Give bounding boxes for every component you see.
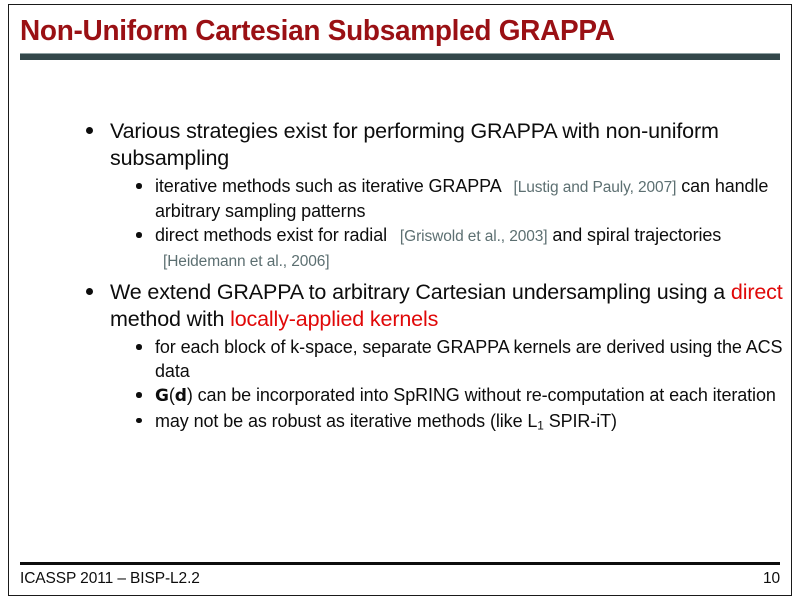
- footer-rule: [20, 562, 780, 565]
- bullet-list-level2: for each block of k-space, separate GRAP…: [0, 336, 800, 438]
- sub-bullet-item: iterative methods such as iterative GRAP…: [0, 175, 800, 223]
- bullet-dot-icon: [136, 344, 142, 350]
- slide-body: Various strategies exist for performing …: [0, 118, 800, 444]
- title-area: Non-Uniform Cartesian Subsampled GRAPPA: [20, 14, 782, 48]
- bullet-dot-icon: [136, 392, 142, 398]
- sub-bullet-item: may not be as robust as iterative method…: [0, 410, 800, 438]
- citation-reference: [Lustig and Pauly, 2007]: [514, 179, 677, 196]
- bullet-text-part1: We extend GRAPPA to arbitrary Cartesian …: [110, 280, 731, 304]
- bullet-text-part2: method with: [110, 307, 230, 331]
- bullet-text: Various strategies exist for performing …: [110, 119, 719, 170]
- bullet-list-level1: Various strategies exist for performing …: [0, 118, 800, 438]
- bullet-dot-icon: [86, 288, 93, 295]
- sublist-container: for each block of k-space, separate GRAP…: [0, 336, 800, 438]
- math-symbol-d: d: [175, 386, 187, 406]
- bullet-dot-icon: [136, 418, 142, 424]
- sub-bullet-item: for each block of k-space, separate GRAP…: [0, 336, 800, 383]
- slide-canvas: Non-Uniform Cartesian Subsampled GRAPPA …: [0, 0, 800, 600]
- title-underline-rule: [20, 53, 780, 60]
- bullet-dot-icon: [136, 232, 142, 238]
- sub-bullet-item: direct methods exist for radial [Griswol…: [0, 224, 800, 273]
- sub-bullet-text: direct methods exist for radial: [155, 225, 387, 245]
- sublist-container: iterative methods such as iterative GRAP…: [0, 175, 800, 273]
- citation-reference: [Griswold et al., 2003]: [400, 228, 548, 245]
- sub-bullet-text: can be incorporated into SpRING without …: [193, 385, 776, 405]
- sub-bullet-text: for each block of k-space, separate GRAP…: [155, 337, 782, 381]
- sub-bullet-text: iterative methods such as iterative GRAP…: [155, 176, 501, 196]
- highlighted-term-kernels: locally-applied kernels: [230, 307, 438, 331]
- footer-conference-label: ICASSP 2011 – BISP-L2.2: [20, 570, 200, 588]
- sub-bullet-text-part2: SPIR-iT): [544, 411, 617, 431]
- math-symbol-g: G: [155, 386, 169, 406]
- slide-page-number: 10: [763, 570, 780, 588]
- sub-bullet-item: G(d) can be incorporated into SpRING wit…: [0, 384, 800, 409]
- bullet-dot-icon: [136, 183, 142, 189]
- bullet-item: Various strategies exist for performing …: [0, 118, 800, 171]
- highlighted-term-direct: direct: [731, 280, 783, 304]
- citation-reference-secondary: [Heidemann et al., 2006]: [163, 253, 330, 270]
- footer: ICASSP 2011 – BISP-L2.2 10: [20, 570, 780, 588]
- sub-bullet-text-mid: and spiral trajectories: [552, 225, 721, 245]
- bullet-dot-icon: [86, 127, 93, 134]
- sub-bullet-text-part1: may not be as robust as iterative method…: [155, 411, 537, 431]
- bullet-item: We extend GRAPPA to arbitrary Cartesian …: [0, 279, 800, 332]
- bullet-list-level2: iterative methods such as iterative GRAP…: [0, 175, 800, 273]
- slide-title: Non-Uniform Cartesian Subsampled GRAPPA: [20, 14, 755, 48]
